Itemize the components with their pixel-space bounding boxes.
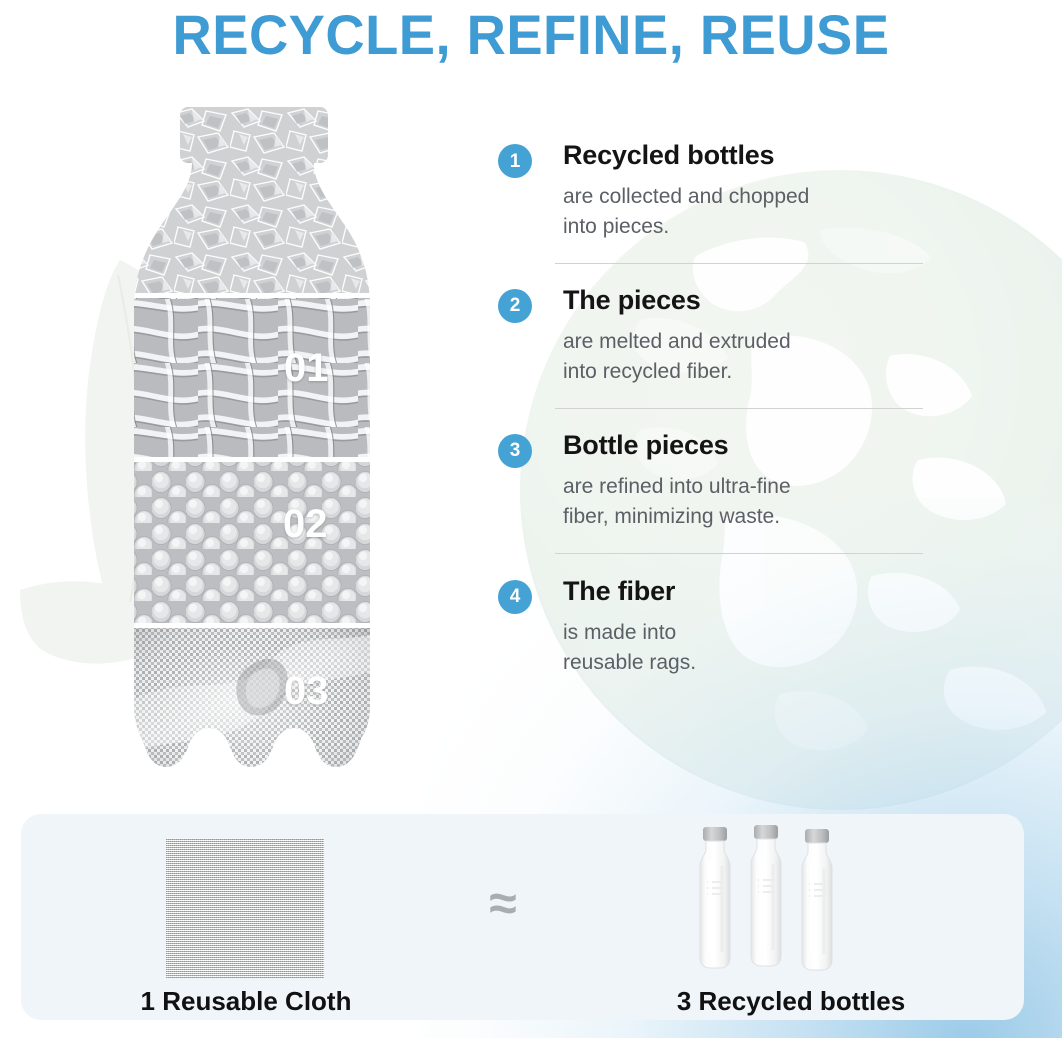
infographic-root: RECYCLE, REFINE, REUSE [0,0,1062,1038]
step-body-1: are collected and chopped into pieces. [563,182,938,243]
step-item-2: 2 The pieces are melted and extruded int… [498,285,938,388]
step-badge-1: 1 [498,144,532,178]
step-badge-2: 2 [498,289,532,323]
step-body-2: are melted and extruded into recycled fi… [563,327,938,388]
step-body-3: are refined into ultra-fine fiber, minim… [563,472,938,533]
step-item-3: 3 Bottle pieces are refined into ultra-f… [498,430,938,533]
steps-list: 1 Recycled bottles are collected and cho… [498,140,938,679]
approximately-equal-icon: ≈ [468,878,538,928]
step-divider-1 [555,263,923,264]
bottles-label: 3 Recycled bottles [596,986,986,1017]
cloth-swatch-icon [166,838,324,978]
cloth-label: 1 Reusable Cloth [61,986,431,1017]
step-divider-3 [555,553,923,554]
step-item-4: 4 The fiber is made into reusable rags. [498,576,938,679]
step-divider-2 [555,408,923,409]
step-body-4: is made into reusable rags. [563,618,938,679]
step-title-1: Recycled bottles [563,140,938,171]
page-title: RECYCLE, REFINE, REUSE [16,2,1046,67]
step-badge-4: 4 [498,580,532,614]
bottle-illustration: 01 02 03 04 [118,107,386,804]
step-badge-3: 3 [498,434,532,468]
three-bottles-icon [691,822,881,974]
step-title-3: Bottle pieces [563,430,938,461]
step-item-1: 1 Recycled bottles are collected and cho… [498,140,938,243]
step-title-4: The fiber [563,576,938,607]
step-title-2: The pieces [563,285,938,316]
